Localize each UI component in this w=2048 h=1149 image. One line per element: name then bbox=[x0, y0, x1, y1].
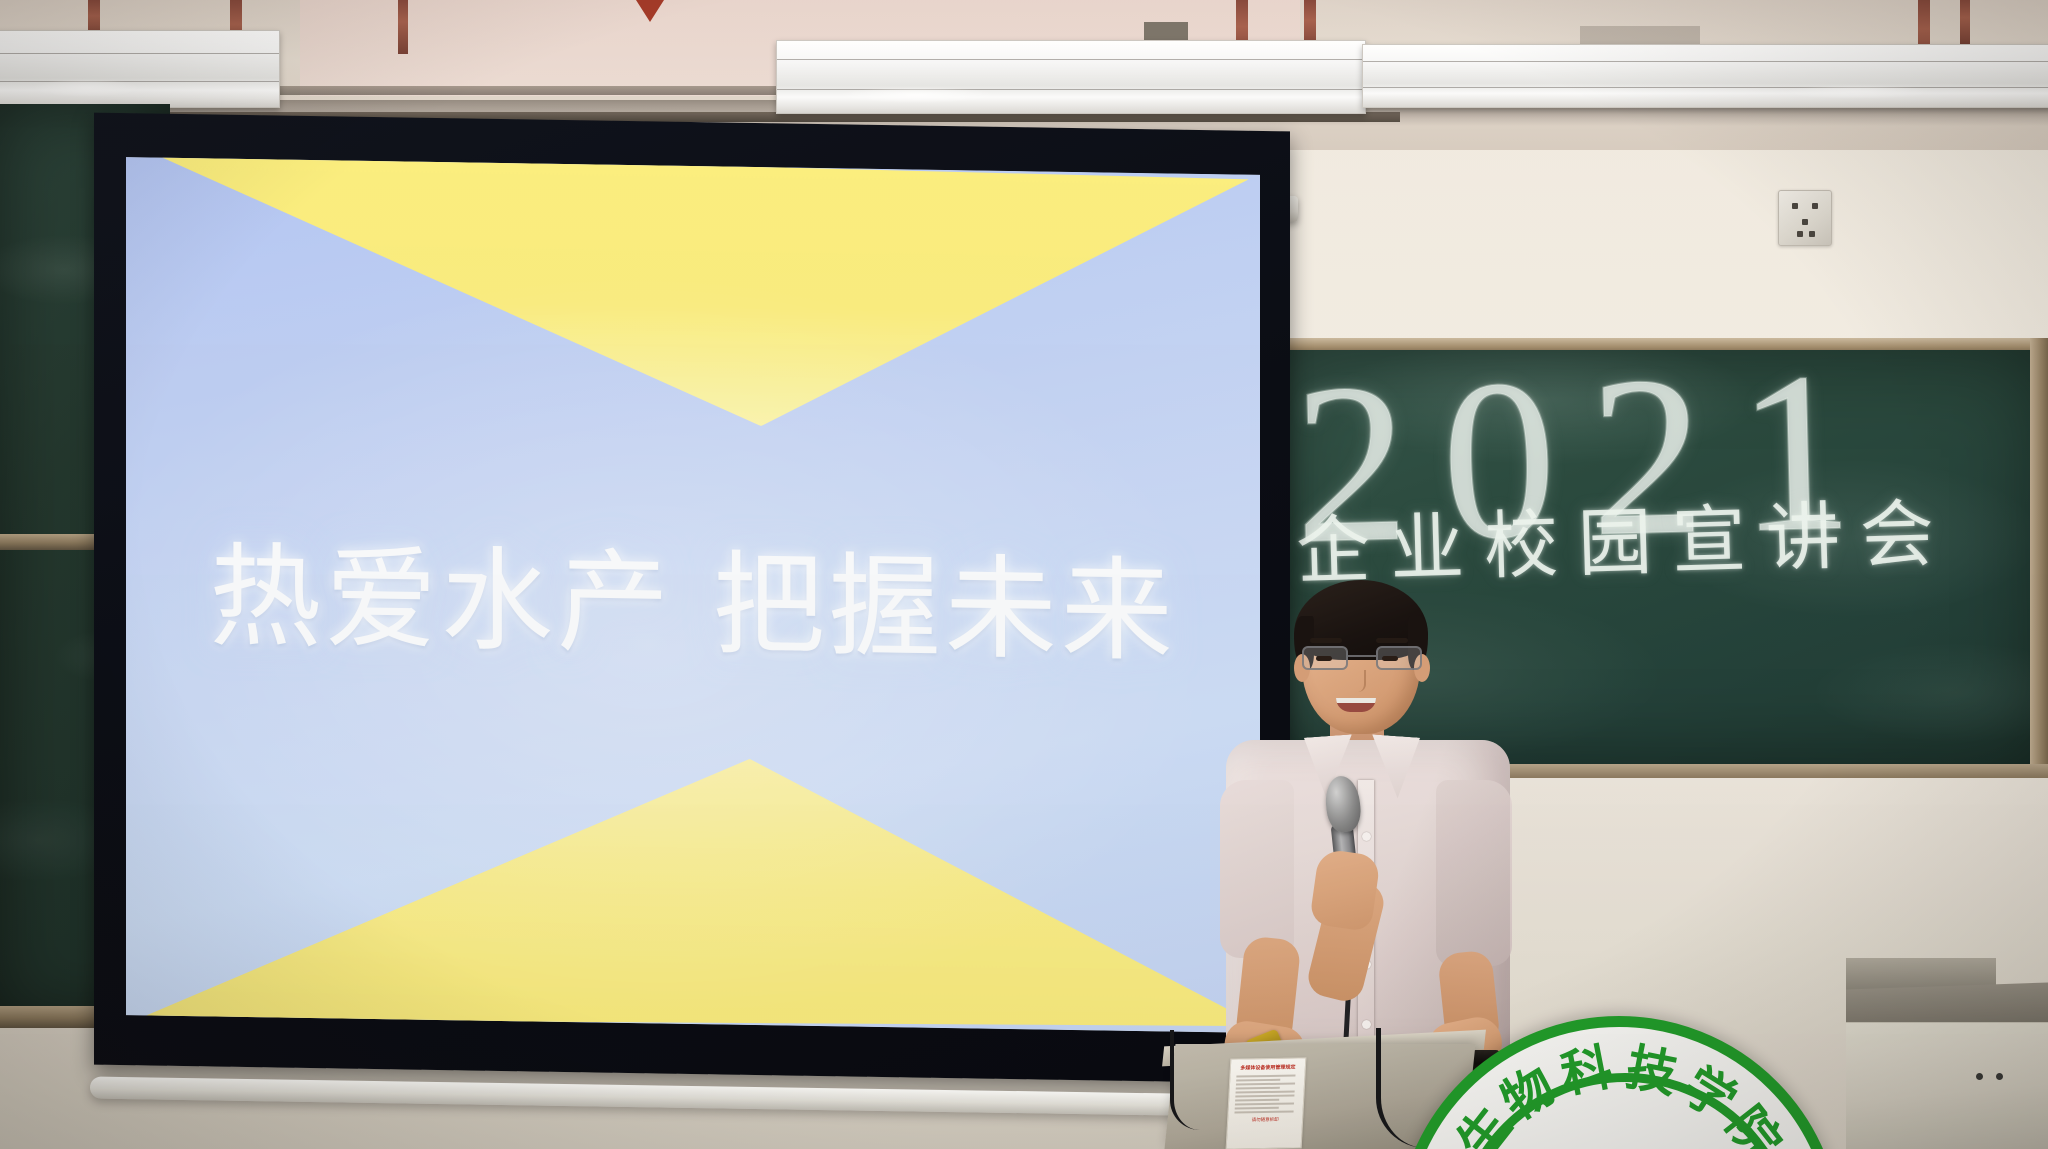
slide-triangle-top bbox=[126, 157, 1260, 434]
presenter-eye bbox=[1316, 656, 1332, 661]
wall-marker-icon bbox=[636, 0, 664, 22]
shirt-button bbox=[1362, 1020, 1371, 1029]
presenter-hand-holding-mic bbox=[1309, 848, 1381, 932]
projection-screen: 热爱水产 把握未来 bbox=[48, 100, 1248, 1060]
slide-triangle-bottom bbox=[126, 749, 1260, 1033]
chalkboard-headline-text: 企业校园宣讲会 bbox=[1295, 497, 1955, 589]
presenter-eyebrow bbox=[1310, 638, 1342, 643]
wall-bracket-icon bbox=[398, 0, 408, 54]
notice-title-text: 多媒体设备使用管理规定 bbox=[1231, 1064, 1305, 1073]
slide-title-text: 热爱水产 把握未来 bbox=[126, 505, 1260, 685]
logo-char: 技 bbox=[1622, 1042, 1681, 1101]
presenter-sleeve bbox=[1220, 780, 1294, 958]
power-cable bbox=[1170, 1030, 1200, 1130]
shirt-button bbox=[1362, 832, 1371, 841]
ceiling-lamp bbox=[0, 30, 280, 108]
presenter-sleeve bbox=[1436, 780, 1512, 966]
ceiling-lamp bbox=[1362, 44, 2048, 108]
presenter-nose bbox=[1352, 670, 1366, 692]
wall-power-socket-icon bbox=[1778, 190, 1832, 246]
projected-slide: 热爱水产 把握未来 bbox=[126, 157, 1260, 1033]
slide-background: 热爱水产 把握未来 bbox=[126, 157, 1260, 1033]
presenter bbox=[1218, 580, 1518, 1060]
presenter-eyebrow bbox=[1376, 638, 1408, 643]
notice-footer-text: 请勿随意拆卸 bbox=[1228, 1116, 1302, 1123]
equipment-cabinet-right bbox=[1846, 1022, 2048, 1149]
logo-char: 科 bbox=[1557, 1042, 1616, 1101]
classroom-photo: 2021 企业校园宣讲会 热爱水产 把握未来 bbox=[0, 0, 2048, 1149]
presenter-eye bbox=[1382, 656, 1398, 661]
chalkboard-frame-side bbox=[2030, 338, 2048, 778]
equipment-notice-sheet: 多媒体设备使用管理规定 请勿随意拆卸 bbox=[1226, 1057, 1307, 1149]
wall-bracket-icon bbox=[1960, 0, 1970, 44]
